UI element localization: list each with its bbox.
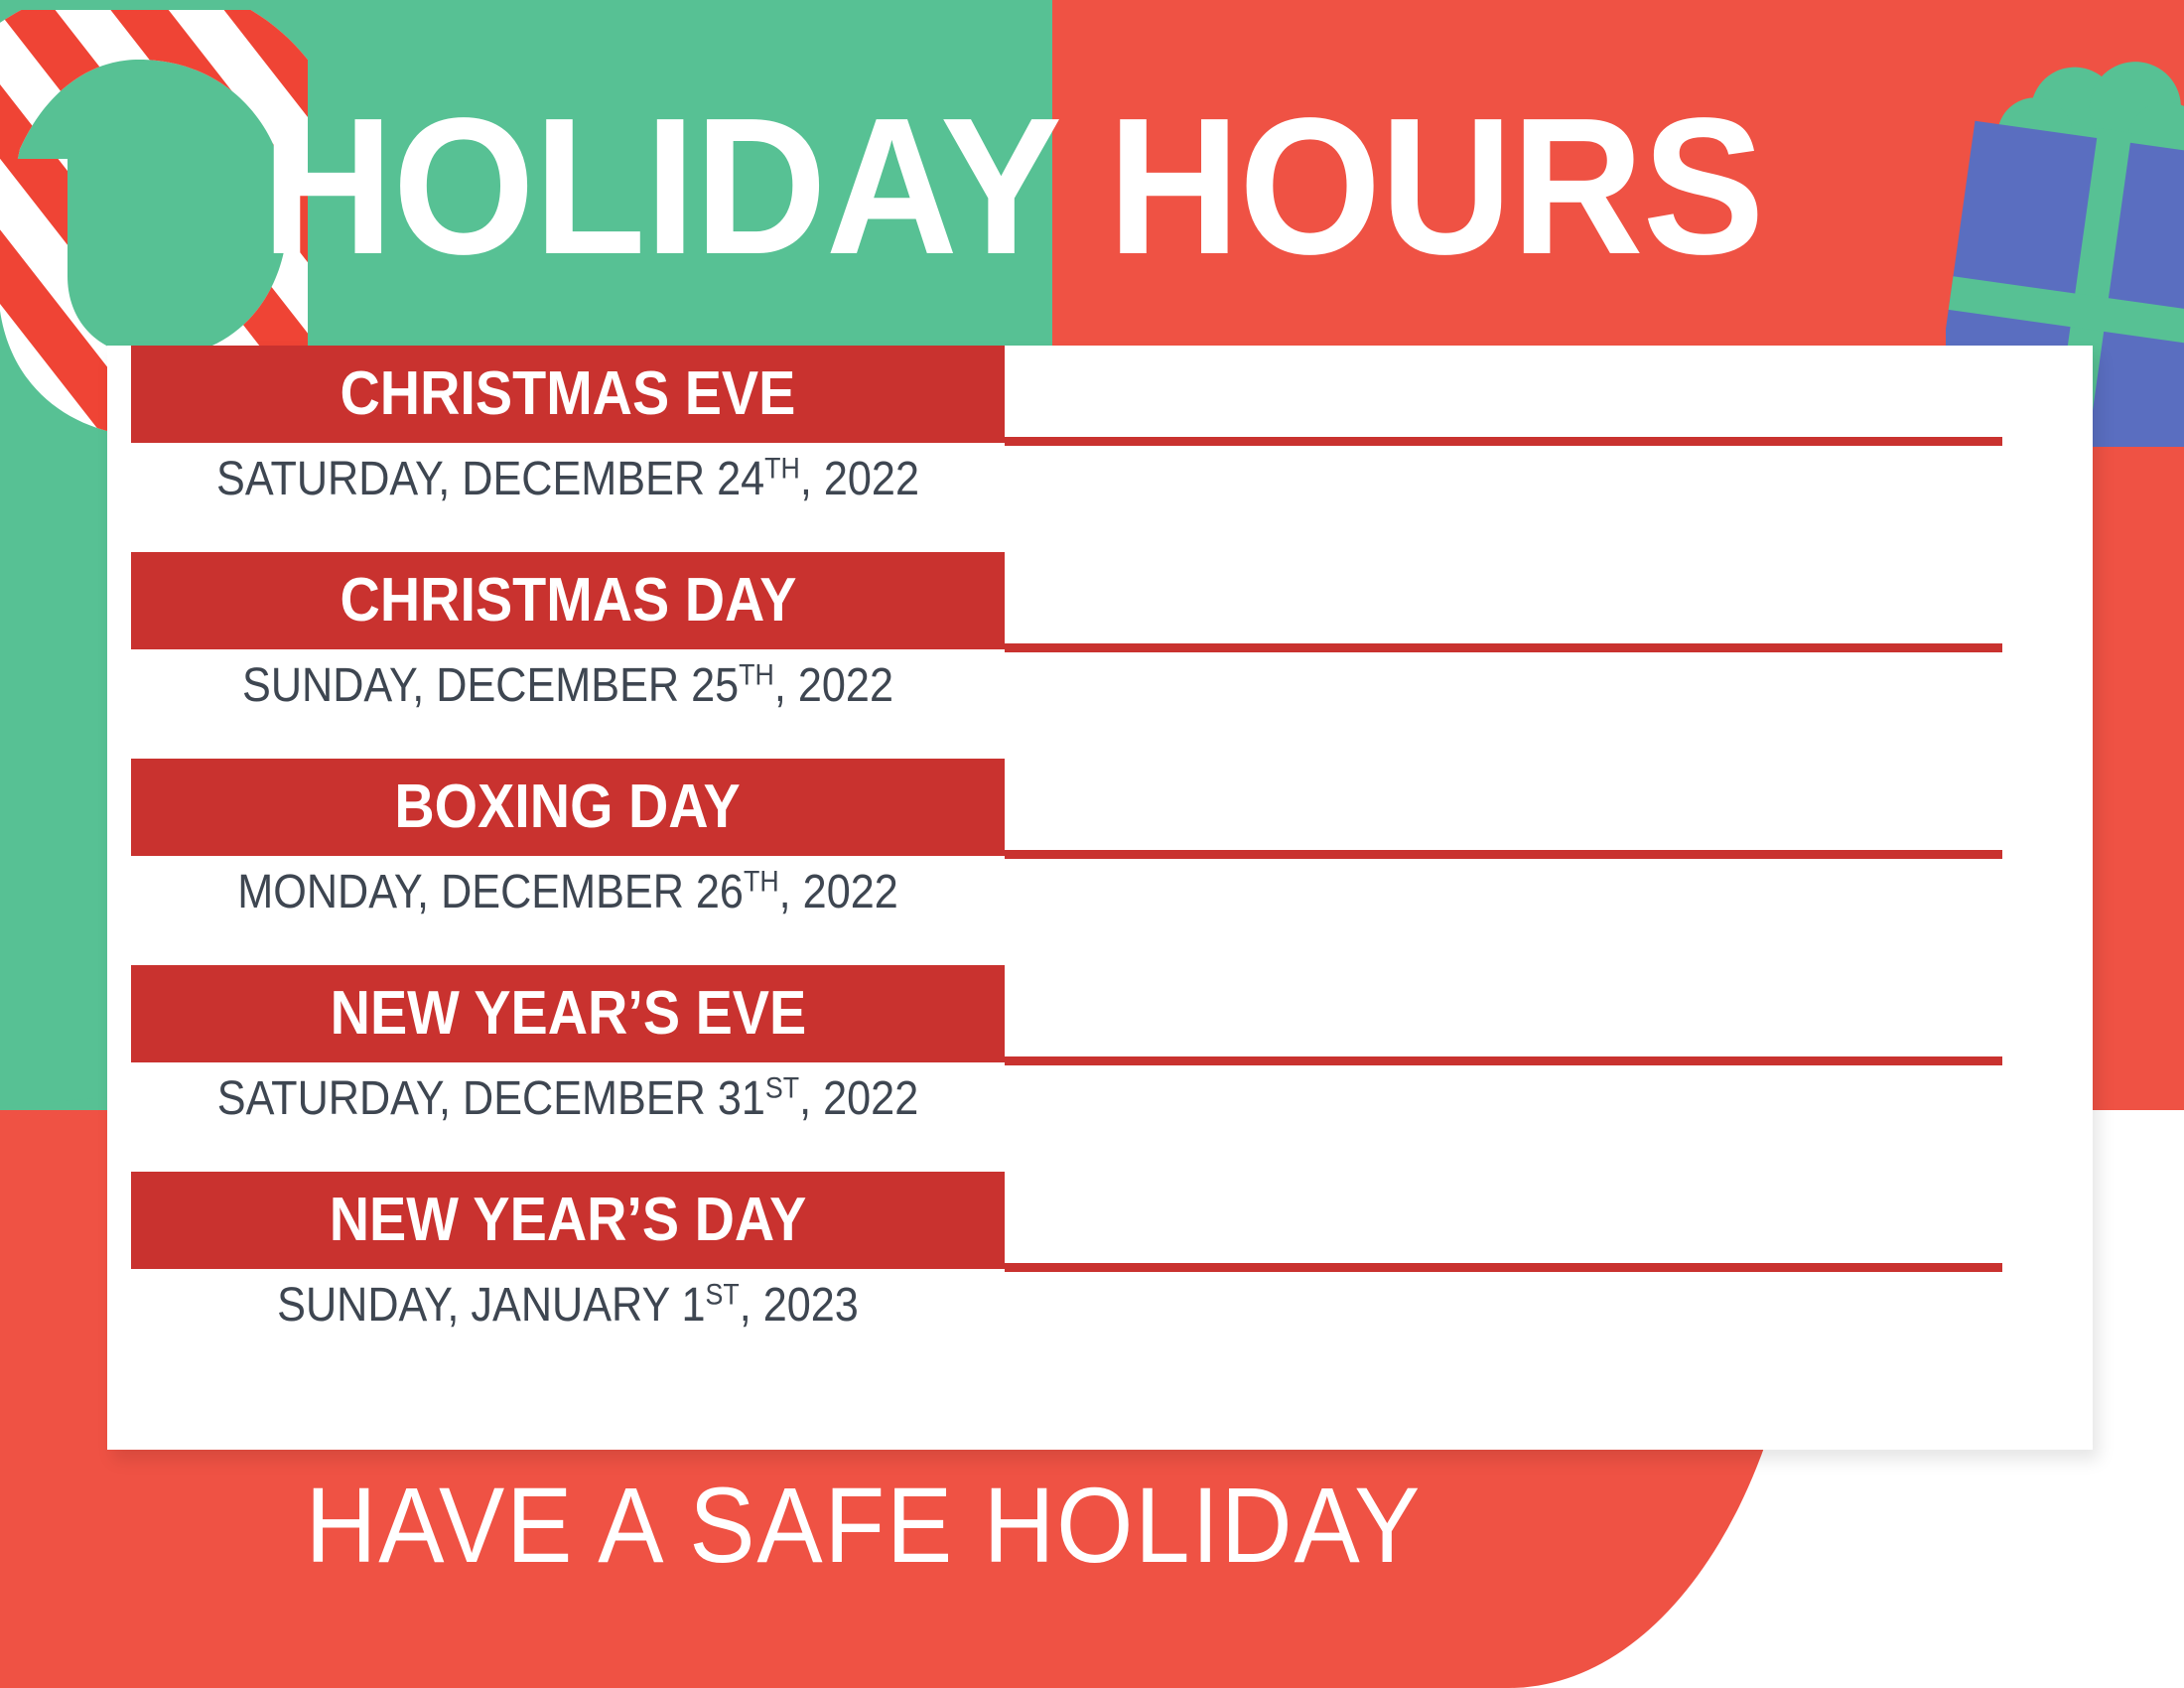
hours-row: NEW YEAR’S DAY SUNDAY, JANUARY 1ST, 2023	[107, 1172, 2093, 1386]
holiday-date-ordinal: TH	[764, 453, 800, 486]
holiday-name-label: NEW YEAR’S EVE	[330, 983, 806, 1045]
holiday-date-ordinal: TH	[739, 659, 774, 692]
holiday-date-prefix: SATURDAY, DECEMBER 31	[217, 1072, 765, 1125]
holiday-date-suffix: , 2022	[779, 866, 898, 918]
holiday-date: SATURDAY, DECEMBER 24TH, 2022	[175, 449, 961, 510]
holiday-date: SUNDAY, DECEMBER 25TH, 2022	[175, 655, 961, 717]
hours-entry-rule	[1005, 1056, 2002, 1065]
hours-card: CHRISTMAS EVE SATURDAY, DECEMBER 24TH, 2…	[107, 346, 2093, 1450]
holiday-date-suffix: , 2022	[799, 1072, 918, 1125]
holiday-name-label: BOXING DAY	[395, 776, 741, 838]
holiday-date-prefix: SATURDAY, DECEMBER 24	[216, 453, 764, 505]
holiday-name-label: CHRISTMAS DAY	[340, 570, 796, 632]
holiday-date-ordinal: TH	[744, 866, 779, 899]
holiday-hours-poster: HOLIDAY HOURS CHRISTMAS EVE SATURDAY, DE…	[0, 0, 2184, 1688]
hours-row: BOXING DAY MONDAY, DECEMBER 26TH, 2022	[107, 759, 2093, 965]
holiday-date-ordinal: ST	[706, 1279, 740, 1312]
holiday-date-prefix: SUNDAY, JANUARY 1	[277, 1279, 705, 1332]
holiday-date: SUNDAY, JANUARY 1ST, 2023	[175, 1275, 961, 1336]
hours-entry-rule	[1005, 850, 2002, 859]
holiday-date: SATURDAY, DECEMBER 31ST, 2022	[175, 1068, 961, 1130]
holiday-date-suffix: , 2022	[774, 659, 893, 712]
holiday-name-bar: NEW YEAR’S EVE	[131, 965, 1005, 1062]
holiday-name-label: NEW YEAR’S DAY	[330, 1190, 807, 1251]
hours-entry-rule	[1005, 643, 2002, 652]
holiday-date-ordinal: ST	[765, 1072, 799, 1105]
hours-row: NEW YEAR’S EVE SATURDAY, DECEMBER 31ST, …	[107, 965, 2093, 1172]
holiday-date-suffix: , 2022	[800, 453, 919, 505]
hours-row-list: CHRISTMAS EVE SATURDAY, DECEMBER 24TH, 2…	[107, 346, 2093, 1386]
holiday-name-label: CHRISTMAS EVE	[341, 363, 796, 425]
hours-row: CHRISTMAS DAY SUNDAY, DECEMBER 25TH, 202…	[107, 552, 2093, 759]
page-title: HOLIDAY HOURS	[61, 87, 1965, 286]
hours-entry-rule	[1005, 1263, 2002, 1272]
holiday-name-bar: CHRISTMAS EVE	[131, 346, 1005, 443]
hours-row: CHRISTMAS EVE SATURDAY, DECEMBER 24TH, 2…	[107, 346, 2093, 552]
holiday-date-prefix: MONDAY, DECEMBER 26	[237, 866, 744, 918]
holiday-date-suffix: , 2023	[740, 1279, 859, 1332]
holiday-name-bar: CHRISTMAS DAY	[131, 552, 1005, 649]
footer-message: HAVE A SAFE HOLIDAY	[69, 1466, 1659, 1585]
holiday-date: MONDAY, DECEMBER 26TH, 2022	[175, 862, 961, 923]
holiday-name-bar: NEW YEAR’S DAY	[131, 1172, 1005, 1269]
holiday-name-bar: BOXING DAY	[131, 759, 1005, 856]
hours-entry-rule	[1005, 437, 2002, 446]
holiday-date-prefix: SUNDAY, DECEMBER 25	[242, 659, 739, 712]
